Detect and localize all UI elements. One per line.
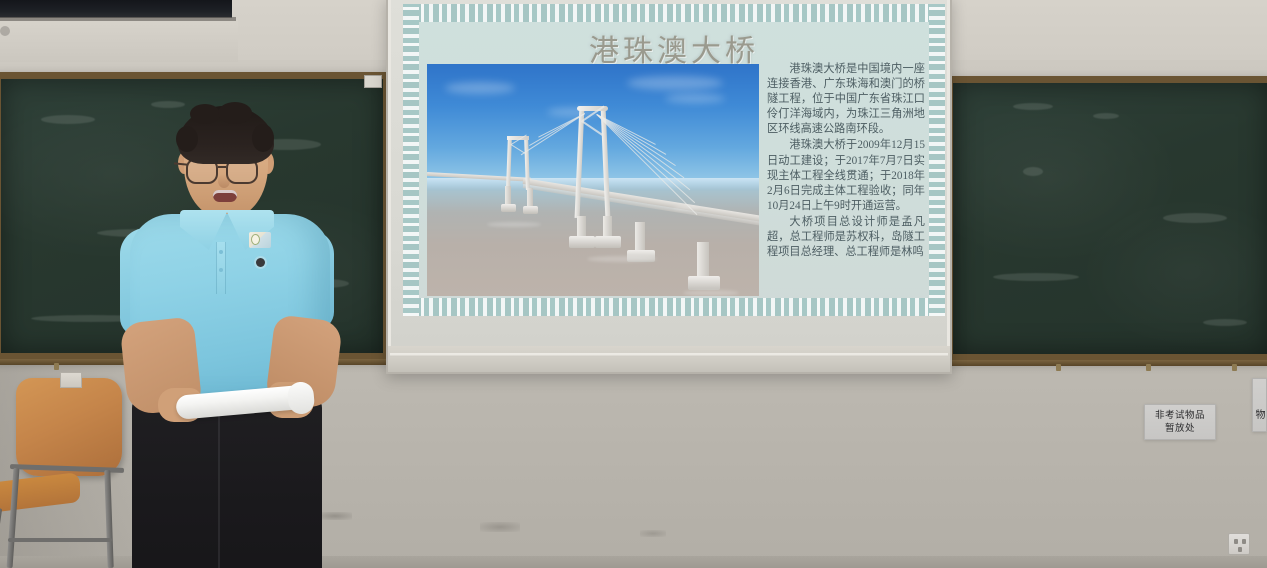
glasses-bridge xyxy=(218,166,226,168)
trouser-crease xyxy=(218,406,220,568)
partial-sign: 物 xyxy=(1252,378,1267,432)
storage-sign-line2: 暂放处 xyxy=(1155,422,1205,435)
ceiling-fixture-dot xyxy=(0,26,10,36)
student-presenter xyxy=(118,106,344,568)
right-chalkboard xyxy=(946,76,1267,361)
badge-emblem-icon xyxy=(251,234,260,245)
ceiling-band-edge xyxy=(0,17,236,21)
slide-paragraph-3: 大桥项目总设计师是孟凡超，总工程师是苏权科，岛隧工程项目总经理、总工程师是林鸣 xyxy=(767,215,925,260)
nose xyxy=(218,174,230,188)
lapel-pin xyxy=(256,258,265,267)
mouth xyxy=(213,190,237,202)
screen-bottom-rail xyxy=(388,346,950,372)
wall-scuff xyxy=(640,530,666,537)
slide-ornament-top xyxy=(403,4,945,22)
right-chalk-tray xyxy=(946,360,1267,366)
slide-paragraph-2: 港珠澳大桥于2009年12月15日动工建设；于2017年7月7日实现主体工程全线… xyxy=(767,138,925,213)
board-clip xyxy=(364,75,382,88)
wall-outlet xyxy=(1228,533,1250,555)
projection-screen: 港珠澳大桥 xyxy=(386,0,952,374)
slide-content: 港珠澳大桥 xyxy=(419,22,929,298)
ceiling-soffit xyxy=(0,20,238,62)
storage-sign: 非考试物品 暂放处 xyxy=(1144,404,1216,440)
slide-ornament-bottom xyxy=(403,298,945,316)
slide-body-text: 港珠澳大桥是中国境内一座连接香港、广东珠海和澳门的桥隧工程，位于中国广东省珠江口… xyxy=(767,62,925,261)
wall-scuff xyxy=(480,522,520,532)
trousers xyxy=(132,394,322,568)
projected-slide: 港珠澳大桥 xyxy=(403,4,945,316)
ceiling-dark-band xyxy=(0,0,232,18)
screen-rail-line xyxy=(390,353,948,357)
chair-backrest xyxy=(16,378,122,476)
wall-plate xyxy=(60,372,82,388)
projection-screen-surface: 港珠澳大桥 xyxy=(391,0,947,346)
bridge-photo xyxy=(427,64,759,296)
slide-paragraph-1: 港珠澳大桥是中国境内一座连接香港、广东珠海和澳门的桥隧工程，位于中国广东省珠江口… xyxy=(767,62,925,137)
slide-ornament-right xyxy=(929,4,945,316)
slide-ornament-left xyxy=(403,4,419,316)
classroom-scene: 港珠澳大桥 xyxy=(0,0,1267,568)
storage-sign-line1: 非考试物品 xyxy=(1155,409,1205,422)
right-chalkboard-surface xyxy=(953,83,1267,354)
classroom-chair xyxy=(0,378,134,568)
